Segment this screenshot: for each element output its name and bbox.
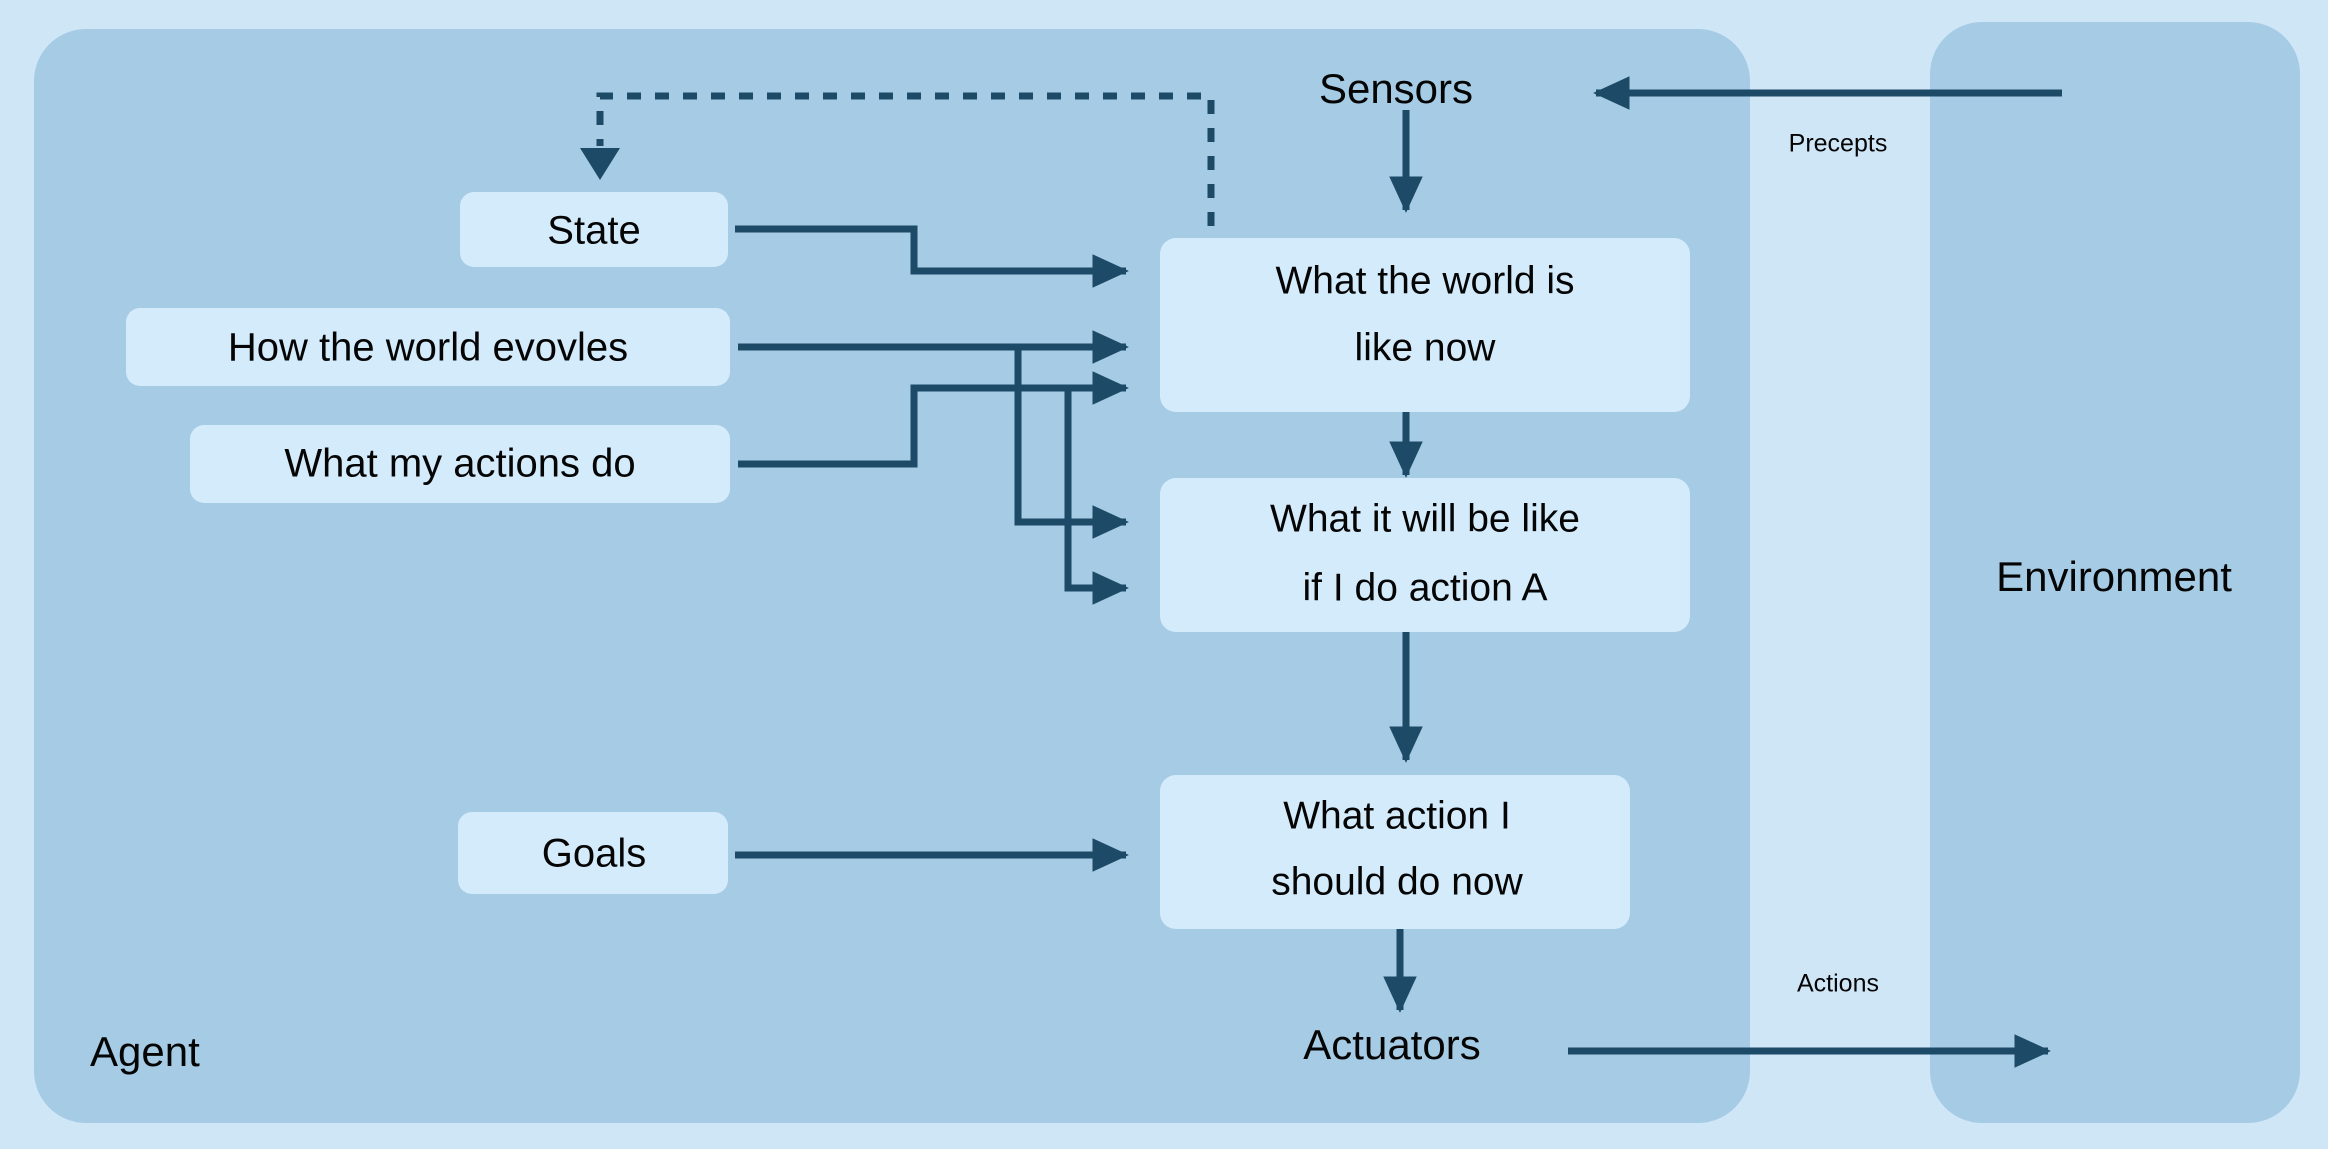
node-world-now-label-line1: What the world is	[1275, 259, 1574, 302]
actions-label: Actions	[1797, 970, 1879, 998]
node-action-now[interactable]: What action I should do now	[1160, 775, 1630, 929]
node-goals[interactable]: Goals	[458, 812, 728, 894]
agent-region-label: Agent	[90, 1028, 200, 1075]
node-world-now[interactable]: What the world is like now	[1160, 238, 1690, 412]
node-how-world-evolves-label: How the world evovles	[228, 326, 628, 370]
diagram-canvas: State How the world evovles What my acti…	[0, 0, 2328, 1149]
agent-architecture-diagram: State How the world evovles What my acti…	[0, 0, 2328, 1149]
node-goals-label: Goals	[542, 832, 647, 876]
node-world-if-action-a-label-line2: if I do action A	[1303, 566, 1548, 609]
node-what-my-actions-do-label: What my actions do	[284, 442, 635, 486]
node-what-my-actions-do[interactable]: What my actions do	[190, 425, 730, 503]
node-world-if-action-a-label-line1: What it will be like	[1270, 497, 1580, 540]
node-action-now-label-line2: should do now	[1271, 860, 1523, 903]
node-state-label: State	[547, 209, 640, 253]
node-how-world-evolves[interactable]: How the world evovles	[126, 308, 730, 386]
actuators-label: Actuators	[1303, 1021, 1480, 1068]
precepts-label: Precepts	[1789, 130, 1888, 158]
sensors-label: Sensors	[1319, 65, 1473, 112]
environment-region-label: Environment	[1996, 553, 2232, 600]
node-state[interactable]: State	[460, 192, 728, 267]
node-world-if-action-a[interactable]: What it will be like if I do action A	[1160, 478, 1690, 632]
node-world-now-label-line2: like now	[1355, 326, 1497, 369]
node-action-now-label-line1: What action I	[1283, 794, 1511, 837]
